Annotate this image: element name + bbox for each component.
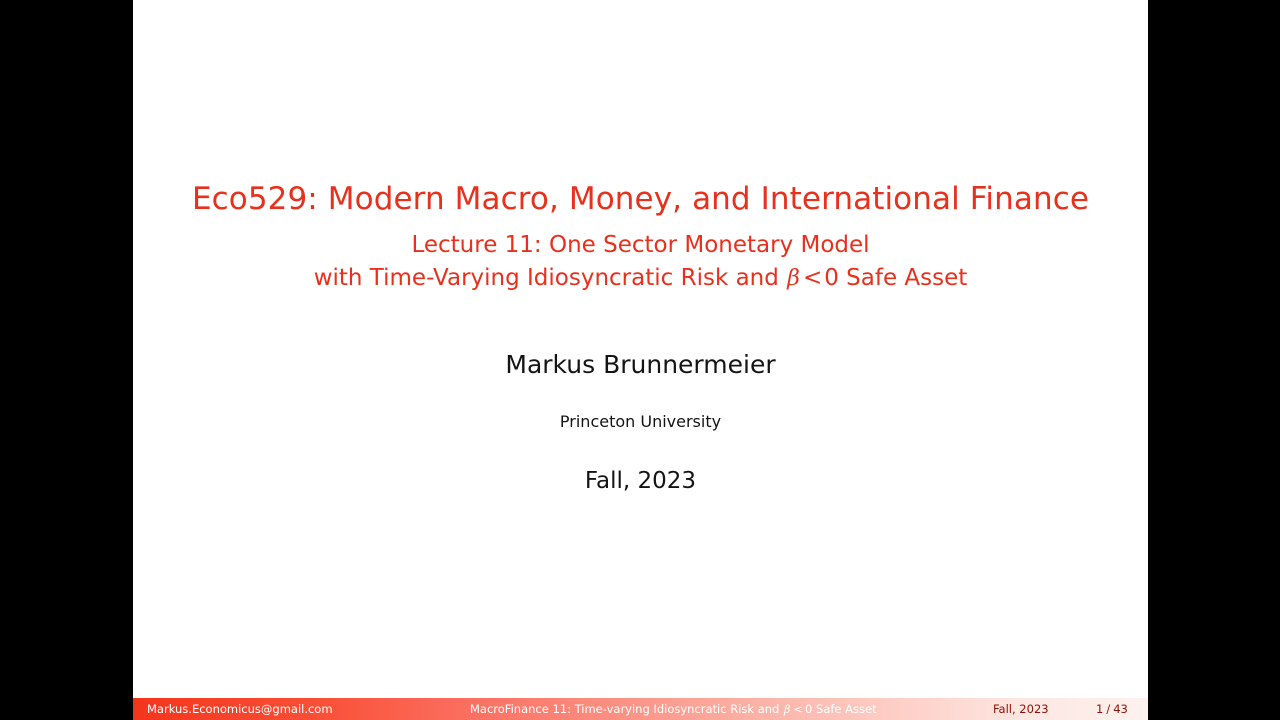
author-name: Markus Brunnermeier — [133, 350, 1148, 379]
presentation-date: Fall, 2023 — [133, 468, 1148, 494]
footer-page-separator: / — [1103, 702, 1113, 716]
footer-total-pages: 43 — [1113, 702, 1128, 716]
letterbox-left — [0, 0, 133, 720]
footer-less-than-symbol: < — [791, 702, 805, 716]
slide-subtitle: Lecture 11: One Sector Monetary Model wi… — [133, 229, 1148, 295]
footer-page-counter: 1/43 — [1096, 698, 1128, 720]
letterbox-right — [1148, 0, 1280, 720]
subtitle-line-2: with Time-Varying Idiosyncratic Risk and… — [133, 262, 1148, 295]
subtitle-line-1: Lecture 11: One Sector Monetary Model — [133, 229, 1148, 262]
math-zero-value: 0 — [824, 265, 839, 291]
footer-short-title: MacroFinance 11: Time-varying Idiosyncra… — [470, 698, 877, 720]
slide-canvas[interactable]: Eco529: Modern Macro, Money, and Interna… — [133, 0, 1148, 720]
footer-author-email: Markus.Economicus@gmail.com — [147, 698, 333, 720]
subtitle-text-before-math: with Time-Varying Idiosyncratic Risk and — [314, 265, 786, 291]
footer-date: Fall, 2023 — [993, 698, 1049, 720]
footer-title-after-math: Safe Asset — [812, 702, 876, 716]
page-title: Eco529: Modern Macro, Money, and Interna… — [133, 182, 1148, 218]
less-than-symbol: < — [801, 265, 824, 291]
beta-symbol: β — [786, 266, 801, 291]
subtitle-text-after-math: Safe Asset — [839, 265, 967, 291]
presentation-viewer: Eco529: Modern Macro, Money, and Interna… — [0, 0, 1280, 720]
institute-name: Princeton University — [133, 412, 1148, 431]
slide-footer-infoline: Markus.Economicus@gmail.com MacroFinance… — [133, 698, 1148, 720]
footer-title-before-math: MacroFinance 11: Time-varying Idiosyncra… — [470, 702, 783, 716]
